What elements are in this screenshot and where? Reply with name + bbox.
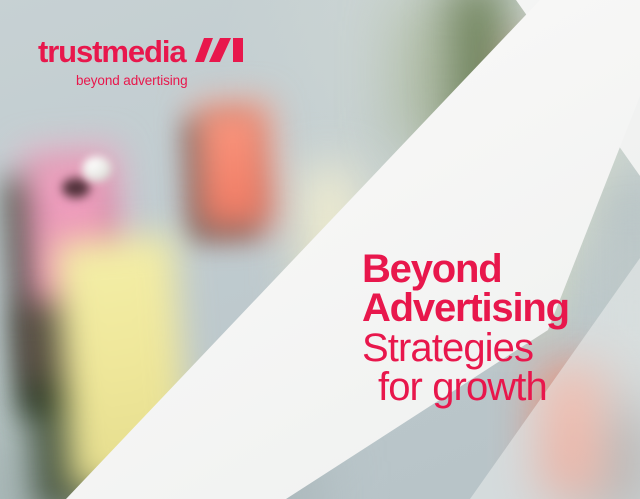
logo-row: trustmedia xyxy=(38,36,243,67)
headline-line-1: Beyond xyxy=(362,250,634,289)
presentation-slide: trustmedia beyond advertising Beyond Adv… xyxy=(0,0,640,499)
note-coral xyxy=(193,100,275,231)
trustmedia-slanted-bars-mark xyxy=(195,35,243,65)
logo-wordmark: trustmedia xyxy=(38,36,185,67)
push-pin-icon xyxy=(82,156,112,182)
headline-line-2: Advertising xyxy=(362,289,634,328)
headline-block: Beyond Advertising Strategies for growth xyxy=(362,250,634,408)
headline-line-3: Strategies xyxy=(362,329,634,368)
headline-line-4: for growth xyxy=(362,368,634,407)
brand-logo: trustmedia beyond advertising xyxy=(38,36,243,88)
pin-shadow xyxy=(62,178,90,198)
logo-tagline: beyond advertising xyxy=(38,74,243,88)
